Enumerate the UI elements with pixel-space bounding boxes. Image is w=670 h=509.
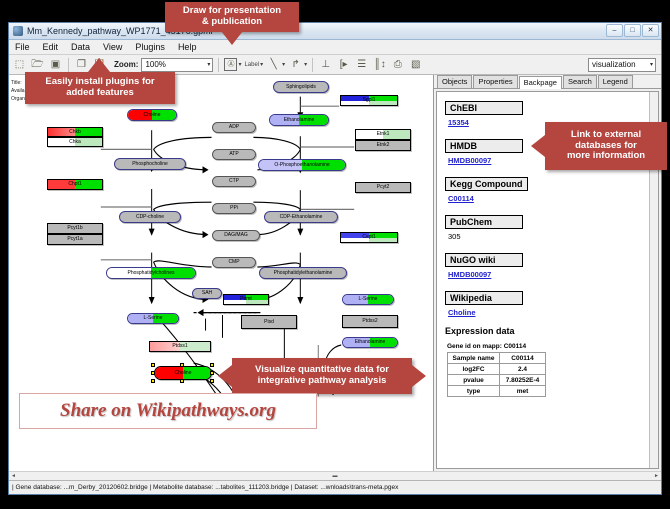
scroll-left-icon[interactable]: ◄: [11, 473, 16, 479]
zoom-value: 100%: [145, 60, 165, 69]
node-o-phosphoethanolamine[interactable]: O-Phosphoethanolamine: [258, 159, 346, 171]
cell-value: 7.80252E-4: [500, 375, 546, 386]
cell-key: type: [448, 386, 500, 397]
callout-links-line1: Link to external: [567, 130, 645, 141]
node-atp[interactable]: ATP: [212, 149, 256, 160]
datanode-chevron-down-icon[interactable]: ▾: [238, 61, 241, 68]
nugo-link[interactable]: HMDB00097: [448, 270, 658, 279]
node-label: Choline: [175, 371, 192, 376]
node-label: PPi: [230, 206, 238, 211]
table-row: type met: [448, 386, 546, 397]
callout-plugins-arrow-icon: [88, 58, 110, 72]
node-label: Pcyt1a: [67, 237, 82, 242]
node-adp[interactable]: ADP: [212, 122, 256, 133]
scroll-right-icon[interactable]: ►: [654, 473, 659, 479]
expression-data-title: Expression data: [445, 326, 658, 336]
node-label: Sphingolipids: [286, 85, 316, 90]
group-icon[interactable]: [▸: [336, 57, 351, 72]
line-tool-icon[interactable]: ╲: [266, 57, 281, 72]
node-label: Ethanolamine: [355, 340, 386, 345]
node-label: CTP: [229, 179, 239, 184]
node-cdp-ethanolamine[interactable]: CDP-Ethanolamine: [264, 211, 338, 223]
visualization-value: visualization: [592, 60, 636, 69]
node-etnk2[interactable]: Etnk2: [355, 140, 411, 151]
chebi-header: ChEBI: [445, 101, 523, 115]
node-label: L-Serine: [144, 316, 163, 321]
node-choline-top[interactable]: Choline: [127, 109, 177, 121]
callout-visualize-line2: integrative pathway analysis: [255, 376, 389, 387]
node-label: Phosphatidylethanolamine: [274, 271, 333, 276]
node-cmp[interactable]: CMP: [212, 257, 256, 268]
node-phosphocholine[interactable]: Phosphocholine: [114, 158, 186, 170]
node-cept1[interactable]: Cept1: [340, 232, 398, 243]
cell-value: met: [500, 386, 546, 397]
node-label: Pisd: [264, 320, 274, 325]
table-row: pvalue 7.80252E-4: [448, 375, 546, 386]
callout-visualize-arrow-icon: [218, 365, 232, 387]
pubchem-header: PubChem: [445, 215, 523, 229]
save-icon[interactable]: ▣: [48, 57, 63, 72]
zoom-combo[interactable]: 100% ▾: [141, 58, 213, 72]
node-l-serine-right[interactable]: L-Serine: [342, 294, 394, 305]
maximize-button[interactable]: □: [624, 24, 641, 37]
node-ethanolamine-top[interactable]: Ethanolamine: [269, 114, 329, 126]
node-ppi[interactable]: PPi: [212, 203, 256, 214]
callout-links: Link to external databases for more info…: [545, 122, 667, 170]
status-bar: | Gene database: ...m_Derby_20120602.bri…: [9, 480, 661, 494]
node-ptdss1[interactable]: Ptdss1: [149, 341, 211, 352]
node-phosphatidylethanolamine[interactable]: Phosphatidylethanolamine: [259, 267, 347, 279]
cell-key: Sample name: [448, 353, 500, 364]
node-phosphatidylcholines[interactable]: Phosphatidylcholines: [106, 267, 196, 279]
toolbar-separator: [68, 58, 69, 72]
node-pcyt1a[interactable]: Pcyt1a: [47, 234, 103, 245]
node-cdp-choline[interactable]: CDP-choline: [119, 211, 181, 223]
tab-backpage[interactable]: Backpage: [519, 76, 562, 89]
minimize-button[interactable]: –: [606, 24, 623, 37]
menu-edit[interactable]: Edit: [41, 42, 61, 52]
menu-view[interactable]: View: [101, 42, 124, 52]
node-label: Ptdss1: [172, 344, 187, 349]
hmdb-header: HMDB: [445, 139, 523, 153]
node-label: Cept1: [362, 235, 375, 240]
node-label: CDP-choline: [136, 215, 164, 220]
cell-key: log2FC: [448, 364, 500, 375]
node-chkb[interactable]: Chkb: [47, 127, 103, 137]
canvas-horizontal-scrollbar[interactable]: ◄ ▬ ►: [9, 471, 661, 480]
align-icon[interactable]: ⊥: [318, 57, 333, 72]
label-tool-label[interactable]: Label: [244, 62, 259, 68]
node-label: Etnk2: [377, 143, 390, 148]
node-label: SAH: [202, 291, 212, 296]
tab-search[interactable]: Search: [563, 75, 597, 88]
table-row: Sample name C00114: [448, 353, 546, 364]
visualization-combo[interactable]: visualization ▾: [588, 58, 656, 72]
callout-links-line3: more information: [567, 151, 645, 162]
distribute-icon[interactable]: ║↕: [372, 57, 387, 72]
node-chpt1[interactable]: Chpt1: [47, 179, 103, 190]
node-label: Pcyt1b: [67, 226, 82, 231]
wikipedia-header: Wikipedia: [445, 291, 523, 305]
node-etnk1[interactable]: Etnk1: [355, 129, 411, 140]
node-label: Choline: [144, 113, 161, 118]
node-label: Ptdss2: [362, 319, 377, 324]
zoom-label: Zoom:: [114, 60, 138, 69]
menu-bar: File Edit Data View Plugins Help: [9, 40, 661, 55]
node-dag-mag[interactable]: DAG/MAG: [212, 230, 260, 241]
table-row: log2FC 2.4: [448, 364, 546, 375]
layer-icon[interactable]: ▧: [408, 57, 423, 72]
node-sgpl1[interactable]: Sgpl1: [340, 95, 398, 106]
node-label: CDP-Ethanolamine: [280, 215, 323, 220]
title-bar: Mm_Kennedy_pathway_WP1771_45176.gpml – □…: [9, 23, 661, 40]
nugo-header: NuGO wiki: [445, 253, 523, 267]
node-label: CMP: [228, 260, 239, 265]
cell-value: 2.4: [500, 364, 546, 375]
node-label: Phosphatidylcholines: [128, 271, 175, 276]
close-button[interactable]: ✕: [642, 24, 659, 37]
node-label: Chpt1: [68, 182, 81, 187]
node-label: Sgpl1: [363, 98, 376, 103]
node-label: Pcyt2: [377, 185, 390, 190]
side-panel-tabs: Objects Properties Backpage Search Legen…: [434, 75, 661, 89]
line-chevron-down-icon[interactable]: ▾: [282, 61, 285, 68]
kegg-header: Kegg Compound: [445, 177, 528, 191]
label-chevron-down-icon[interactable]: ▾: [260, 61, 263, 68]
callout-plugins-line2: added features: [45, 88, 154, 99]
menu-plugins[interactable]: Plugins: [133, 42, 167, 52]
menu-help[interactable]: Help: [176, 42, 199, 52]
node-label: Etnk1: [377, 132, 390, 137]
node-label: Phosphocholine: [132, 162, 168, 167]
node-pisd[interactable]: Pisd: [241, 315, 297, 329]
toolbar-separator-3: [312, 58, 313, 72]
node-sphingolipids[interactable]: Sphingolipids: [273, 81, 329, 93]
copy-icon[interactable]: ❐: [74, 57, 89, 72]
node-sah[interactable]: SAH: [192, 288, 222, 299]
callout-draw-arrow-icon: [221, 31, 243, 45]
connector-chevron-down-icon[interactable]: ▾: [304, 61, 307, 68]
kegg-link[interactable]: C00114: [448, 194, 658, 203]
chevron-down-icon: ▾: [650, 61, 653, 68]
expression-table: Sample name C00114 log2FC 2.4 pvalue 7.8…: [447, 352, 546, 397]
node-label: O-Phosphoethanolamine: [274, 163, 329, 168]
print-icon[interactable]: ⎙: [390, 57, 405, 72]
callout-visualize-arrow-right-icon: [412, 365, 426, 387]
node-label: L-Serine: [359, 297, 378, 302]
scroll-thumb[interactable]: ▬: [333, 473, 338, 479]
node-l-serine-left[interactable]: L-Serine: [127, 313, 179, 324]
app-icon: [13, 26, 23, 36]
node-label: ATP: [229, 152, 238, 157]
cell-key: pvalue: [448, 375, 500, 386]
callout-plugins: Easily install plugins for added feature…: [25, 72, 175, 104]
wikipedia-link[interactable]: Choline: [448, 308, 658, 317]
menu-data[interactable]: Data: [69, 42, 92, 52]
tab-legend[interactable]: Legend: [598, 75, 633, 88]
gene-id-on-mapp: Gene id on mapp: C00114: [447, 343, 658, 350]
node-label: Chka: [69, 140, 81, 145]
stack-icon[interactable]: ☰: [354, 57, 369, 72]
node-ethanolamine-right[interactable]: Ethanolamine: [342, 337, 398, 348]
callout-visualize: Visualize quantitative data for integrat…: [232, 358, 412, 394]
menu-file[interactable]: File: [13, 42, 32, 52]
node-label: Chkb: [69, 130, 81, 135]
node-ptdss2[interactable]: Ptdss2: [342, 315, 398, 328]
new-icon[interactable]: ⬚: [12, 57, 27, 72]
callout-draw: Draw for presentation & publication: [165, 2, 299, 32]
callout-draw-line2: & publication: [183, 17, 281, 28]
toolbar-separator-2: [218, 58, 219, 72]
node-chka[interactable]: Chka: [47, 137, 103, 147]
status-text: | Gene database: ...m_Derby_20120602.bri…: [12, 484, 398, 491]
node-label: Pemt: [240, 297, 252, 302]
connector-tool-icon[interactable]: ↱: [288, 57, 303, 72]
node-pcyt1b[interactable]: Pcyt1b: [47, 223, 103, 234]
node-choline-selected[interactable]: Choline: [154, 366, 212, 380]
open-folder-icon[interactable]: 🗁: [30, 57, 45, 72]
node-label: ADP: [229, 125, 239, 130]
node-label: Ethanolamine: [284, 118, 315, 123]
tab-properties[interactable]: Properties: [473, 75, 517, 88]
node-ctp[interactable]: CTP: [212, 176, 256, 187]
wikipathways-banner-text: Share on Wikipathways.org: [60, 400, 276, 422]
wikipathways-banner: Share on Wikipathways.org: [19, 393, 317, 429]
tab-objects[interactable]: Objects: [437, 75, 472, 88]
window-controls[interactable]: – □ ✕: [606, 24, 659, 37]
node-pcyt2[interactable]: Pcyt2: [355, 182, 411, 193]
pubchem-value: 305: [448, 232, 658, 241]
pathway-canvas[interactable]: Title: Availa Organ: [9, 75, 434, 471]
callout-links-arrow-icon: [531, 135, 545, 157]
chevron-down-icon: ▾: [207, 61, 210, 68]
datanode-icon[interactable]: Ⓐ: [224, 58, 237, 71]
cell-value: C00114: [500, 353, 546, 364]
node-pemt[interactable]: Pemt: [223, 294, 269, 305]
node-label: DAG/MAG: [224, 233, 248, 238]
